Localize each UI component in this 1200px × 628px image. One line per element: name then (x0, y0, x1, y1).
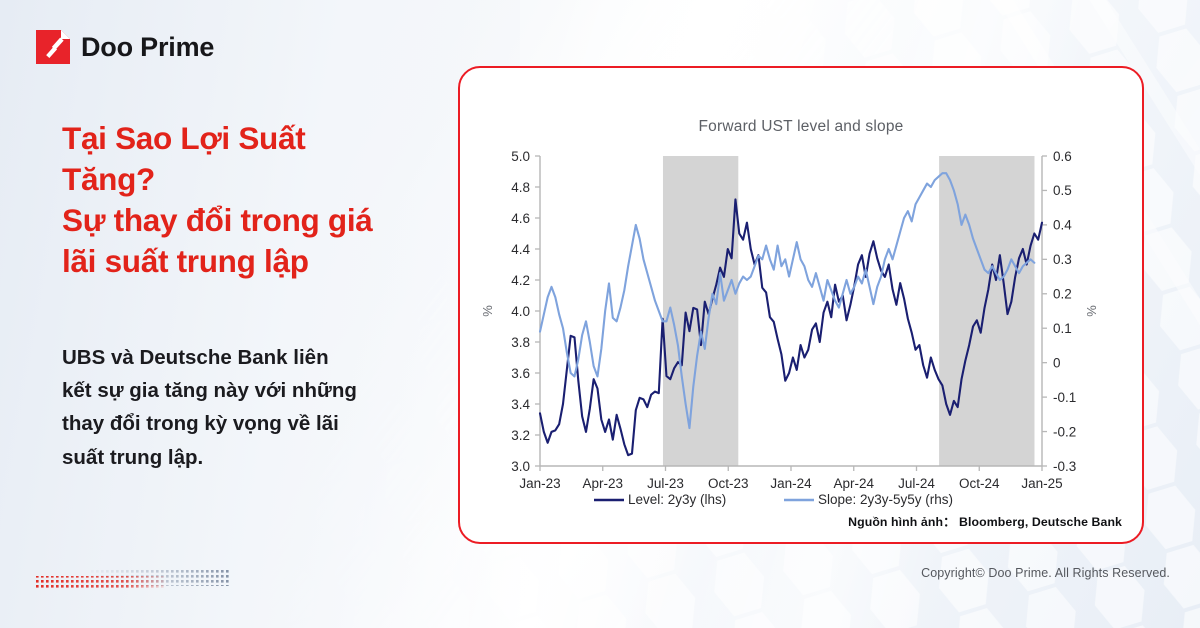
chart-tick-label: 3.2 (511, 428, 530, 443)
chart-tick-label: -0.1 (1053, 390, 1076, 405)
chart-tick-label: 0.1 (1053, 321, 1072, 336)
page-title: Tại Sao Lợi Suất Tăng? Sự thay đổi trong… (62, 118, 482, 282)
chart-card: Forward UST level and slope 3.03.23.43.6… (458, 66, 1144, 544)
headline-line-4: lãi suất trung lập (62, 241, 482, 282)
legend-label: Slope: 2y3y-5y5y (rhs) (818, 492, 953, 507)
copyright-text: Copyright© Doo Prime. All Rights Reserve… (921, 566, 1170, 580)
body-line-2: kết sự gia tăng này với những (62, 374, 452, 407)
chart-plot-area: 3.03.23.43.63.84.04.24.44.64.85.0-0.3-0.… (460, 68, 1146, 546)
source-label: Nguồn hình ảnh： (848, 515, 955, 529)
chart-source: Nguồn hình ảnh： Bloomberg, Deutsche Bank (848, 512, 1122, 530)
chart-tick-label: 5.0 (511, 149, 530, 164)
body-line-4: suất trung lập. (62, 441, 452, 474)
chart-tick-label: 4.8 (511, 180, 530, 195)
x-axis-label: Jul-24 (898, 476, 935, 491)
x-axis-label: Apr-23 (582, 476, 623, 491)
body-line-1: UBS và Deutsche Bank liên (62, 341, 452, 374)
x-axis-label: Oct-23 (708, 476, 749, 491)
chart-tick-label: 0.3 (1053, 252, 1072, 267)
chart-tick-label: 0.2 (1053, 287, 1072, 302)
x-axis-label: Jan-25 (1021, 476, 1062, 491)
y2-axis-label: % (1084, 305, 1099, 317)
decorative-dot-band (36, 560, 286, 600)
chart-tick-label: 3.8 (511, 335, 530, 350)
body-line-3: thay đổi trong kỳ vọng về lãi (62, 407, 452, 440)
headline-line-3: Sự thay đổi trong giá (62, 200, 482, 241)
x-axis-label: Jul-23 (647, 476, 684, 491)
chart-tick-label: 0.4 (1053, 218, 1072, 233)
background-left-fade (0, 0, 520, 628)
chart-shaded-region (939, 156, 1034, 466)
x-axis-label: Oct-24 (959, 476, 1000, 491)
legend-label: Level: 2y3y (lhs) (628, 492, 726, 507)
headline-line-1: Tại Sao Lợi Suất (62, 118, 482, 159)
x-axis-label: Apr-24 (833, 476, 874, 491)
chart-tick-label: -0.2 (1053, 424, 1076, 439)
brand-name: Doo Prime (81, 32, 214, 63)
chart-tick-label: 4.0 (511, 304, 530, 319)
y-axis-label: % (480, 305, 495, 317)
chart-tick-label: 0.6 (1053, 149, 1072, 164)
chart-shaded-region (663, 156, 738, 466)
chart-tick-label: -0.3 (1053, 459, 1076, 474)
brand-logo[interactable]: Doo Prime (36, 30, 214, 64)
chart-tick-label: 4.4 (511, 242, 530, 257)
headline-line-2: Tăng? (62, 159, 482, 200)
chart-tick-label: 0 (1053, 355, 1061, 370)
page-subtitle: UBS và Deutsche Bank liên kết sự gia tăn… (62, 341, 452, 474)
chart-tick-label: 3.4 (511, 397, 530, 412)
doo-prime-logo-mark-icon (36, 30, 70, 64)
chart-tick-label: 4.6 (511, 211, 530, 226)
source-value: Bloomberg, Deutsche Bank (959, 515, 1122, 529)
chart-tick-label: 0.5 (1053, 183, 1072, 198)
chart-tick-label: 3.6 (511, 366, 530, 381)
chart-tick-label: 4.2 (511, 273, 530, 288)
x-axis-label: Jan-24 (770, 476, 812, 491)
chart-tick-label: 3.0 (511, 459, 530, 474)
x-axis-label: Jan-23 (519, 476, 560, 491)
